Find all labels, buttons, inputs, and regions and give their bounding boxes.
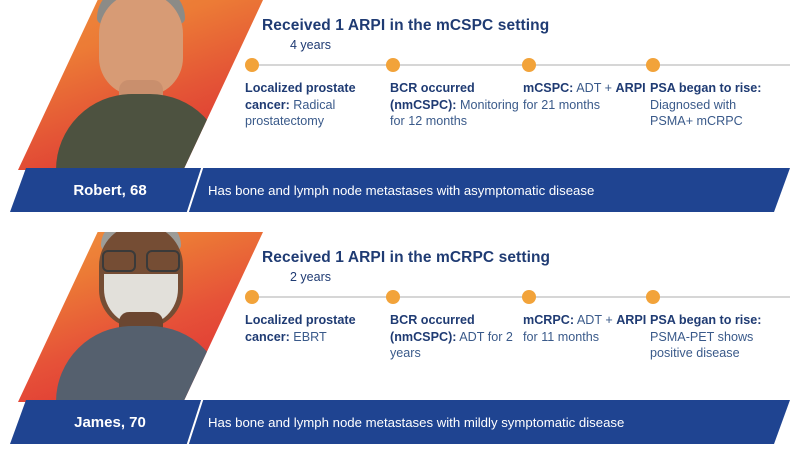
timeline-event-2: BCR occurred (nmCSPC): ADT for 2 years bbox=[390, 312, 522, 362]
timeline-line bbox=[251, 64, 790, 66]
event-body-strong: ARPI bbox=[616, 81, 646, 95]
portrait-illustration-james bbox=[61, 232, 221, 402]
timeline-dot-2 bbox=[386, 290, 400, 304]
patient-banner: Robert, 68 Has bone and lymph node metas… bbox=[0, 168, 800, 212]
timeline-dot-3 bbox=[522, 290, 536, 304]
portrait-shoulders bbox=[56, 326, 226, 402]
patient-panel-robert: Received 1 ARPI in the mCSPC setting 4 y… bbox=[0, 0, 800, 212]
timeline-dot-2 bbox=[386, 58, 400, 72]
event-body-strong: ARPI bbox=[616, 313, 646, 327]
portrait-shoulders bbox=[56, 94, 226, 170]
timeline-events: Localized prostate cancer: EBRT BCR occu… bbox=[245, 312, 795, 392]
timeline-dot-4 bbox=[646, 290, 660, 304]
event-title: PSA began to rise: bbox=[650, 81, 762, 95]
patient-photo-robert bbox=[18, 0, 263, 170]
patient-photo-james bbox=[18, 232, 263, 402]
timeline-event-2: BCR occurred (nmCSPC): Monitoring for 12… bbox=[390, 80, 522, 130]
event-body-pre: ADT + bbox=[574, 313, 616, 327]
event-body-post: for 21 months bbox=[523, 98, 600, 112]
timeline-line bbox=[251, 296, 790, 298]
timeline-event-1: Localized prostate cancer: Radical prost… bbox=[245, 80, 377, 130]
timeline-duration-label: 4 years bbox=[290, 38, 331, 52]
panel-heading: Received 1 ARPI in the mCSPC setting bbox=[262, 17, 549, 35]
event-body-post: for 11 months bbox=[523, 330, 599, 344]
event-title: PSA began to rise: bbox=[650, 313, 762, 327]
timeline-dot-1 bbox=[245, 58, 259, 72]
timeline-dot-3 bbox=[522, 58, 536, 72]
event-body-pre: ADT + bbox=[573, 81, 615, 95]
treatment-timeline: 2 years bbox=[245, 290, 790, 304]
event-body: EBRT bbox=[290, 330, 327, 344]
event-body: PSMA-PET shows positive disease bbox=[650, 330, 753, 361]
event-title: mCRPC: bbox=[523, 313, 574, 327]
patient-profiles-infographic: Received 1 ARPI in the mCSPC setting 4 y… bbox=[0, 0, 800, 460]
patient-banner: James, 70 Has bone and lymph node metast… bbox=[0, 400, 800, 444]
event-title: mCSPC: bbox=[523, 81, 573, 95]
timeline-event-4: PSA began to rise: Diagnosed with PSMA+ … bbox=[650, 80, 782, 130]
timeline-event-4: PSA began to rise: PSMA-PET shows positi… bbox=[650, 312, 782, 362]
patient-name: Robert, 68 bbox=[40, 168, 180, 212]
portrait-glasses bbox=[100, 250, 182, 270]
patient-panel-james: Received 1 ARPI in the mCRPC setting 2 y… bbox=[0, 232, 800, 444]
treatment-timeline: 4 years bbox=[245, 58, 790, 72]
timeline-duration-label: 2 years bbox=[290, 270, 331, 284]
timeline-events: Localized prostate cancer: Radical prost… bbox=[245, 80, 795, 160]
panel-heading: Received 1 ARPI in the mCRPC setting bbox=[262, 249, 550, 267]
timeline-event-3: mCRPC: ADT + ARPI for 11 months bbox=[523, 312, 655, 345]
timeline-event-3: mCSPC: ADT + ARPI for 21 months bbox=[523, 80, 655, 113]
portrait-illustration-robert bbox=[61, 0, 221, 170]
timeline-dot-1 bbox=[245, 290, 259, 304]
patient-name: James, 70 bbox=[40, 400, 180, 444]
timeline-event-1: Localized prostate cancer: EBRT bbox=[245, 312, 377, 345]
patient-description: Has bone and lymph node metastases with … bbox=[208, 168, 594, 212]
patient-description: Has bone and lymph node metastases with … bbox=[208, 400, 624, 444]
timeline-dot-4 bbox=[646, 58, 660, 72]
event-body: Diagnosed with PSMA+ mCRPC bbox=[650, 98, 743, 129]
